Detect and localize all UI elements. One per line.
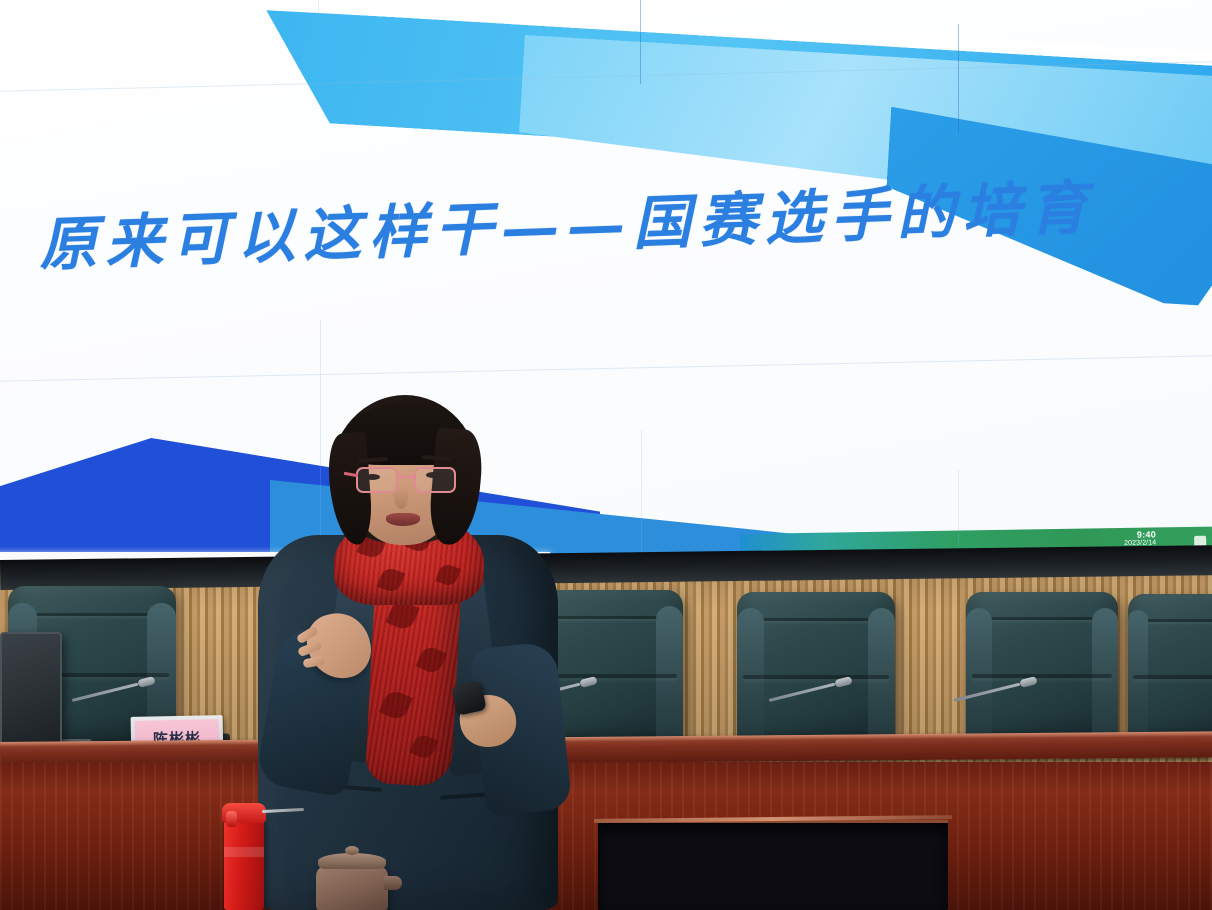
mic-arm [769, 683, 836, 702]
presenter-mouth [386, 513, 420, 526]
chair-wing-right [656, 606, 683, 749]
presentation-photo-scene: 9:40 2023/2/14 原来可以这样干——国赛选手的培育 [0, 0, 1212, 910]
teapot-handle [384, 876, 402, 890]
led-panel-seam [958, 24, 959, 134]
thermos-band [224, 847, 264, 857]
scarf-tail [365, 583, 461, 787]
chair-wing-right [1092, 608, 1118, 747]
mic-capsule [834, 676, 852, 688]
red-thermos [224, 817, 264, 910]
led-panel-seam [640, 0, 641, 84]
mic-capsule [1019, 676, 1037, 688]
glasses-lens-left [356, 467, 398, 493]
desk-monitor [0, 632, 62, 750]
led-panel-seam [318, 0, 319, 60]
glasses-bridge [397, 475, 415, 478]
led-panel-seam [641, 430, 642, 570]
chair-wing-right [868, 608, 895, 749]
clock-time: 9:40 [1124, 530, 1156, 540]
mic-capsule [137, 676, 155, 688]
table-recessed-panel [598, 820, 948, 910]
mic-arm [72, 683, 139, 702]
led-video-wall: 9:40 2023/2/14 原来可以这样干——国赛选手的培育 [0, 0, 1212, 580]
executive-chair [1128, 594, 1212, 750]
glasses-lens-right [414, 467, 456, 493]
thermos-latch [226, 811, 237, 827]
mic-capsule [579, 676, 597, 688]
mic-arm [954, 683, 1021, 702]
teapot-knob [345, 846, 359, 855]
teapot-lid [318, 853, 386, 869]
ceramic-teapot [316, 866, 388, 910]
presenter-glasses [356, 467, 456, 493]
presentation-clicker[interactable] [451, 680, 487, 716]
presenter [246, 395, 566, 910]
chair-wing-left [1128, 610, 1148, 747]
